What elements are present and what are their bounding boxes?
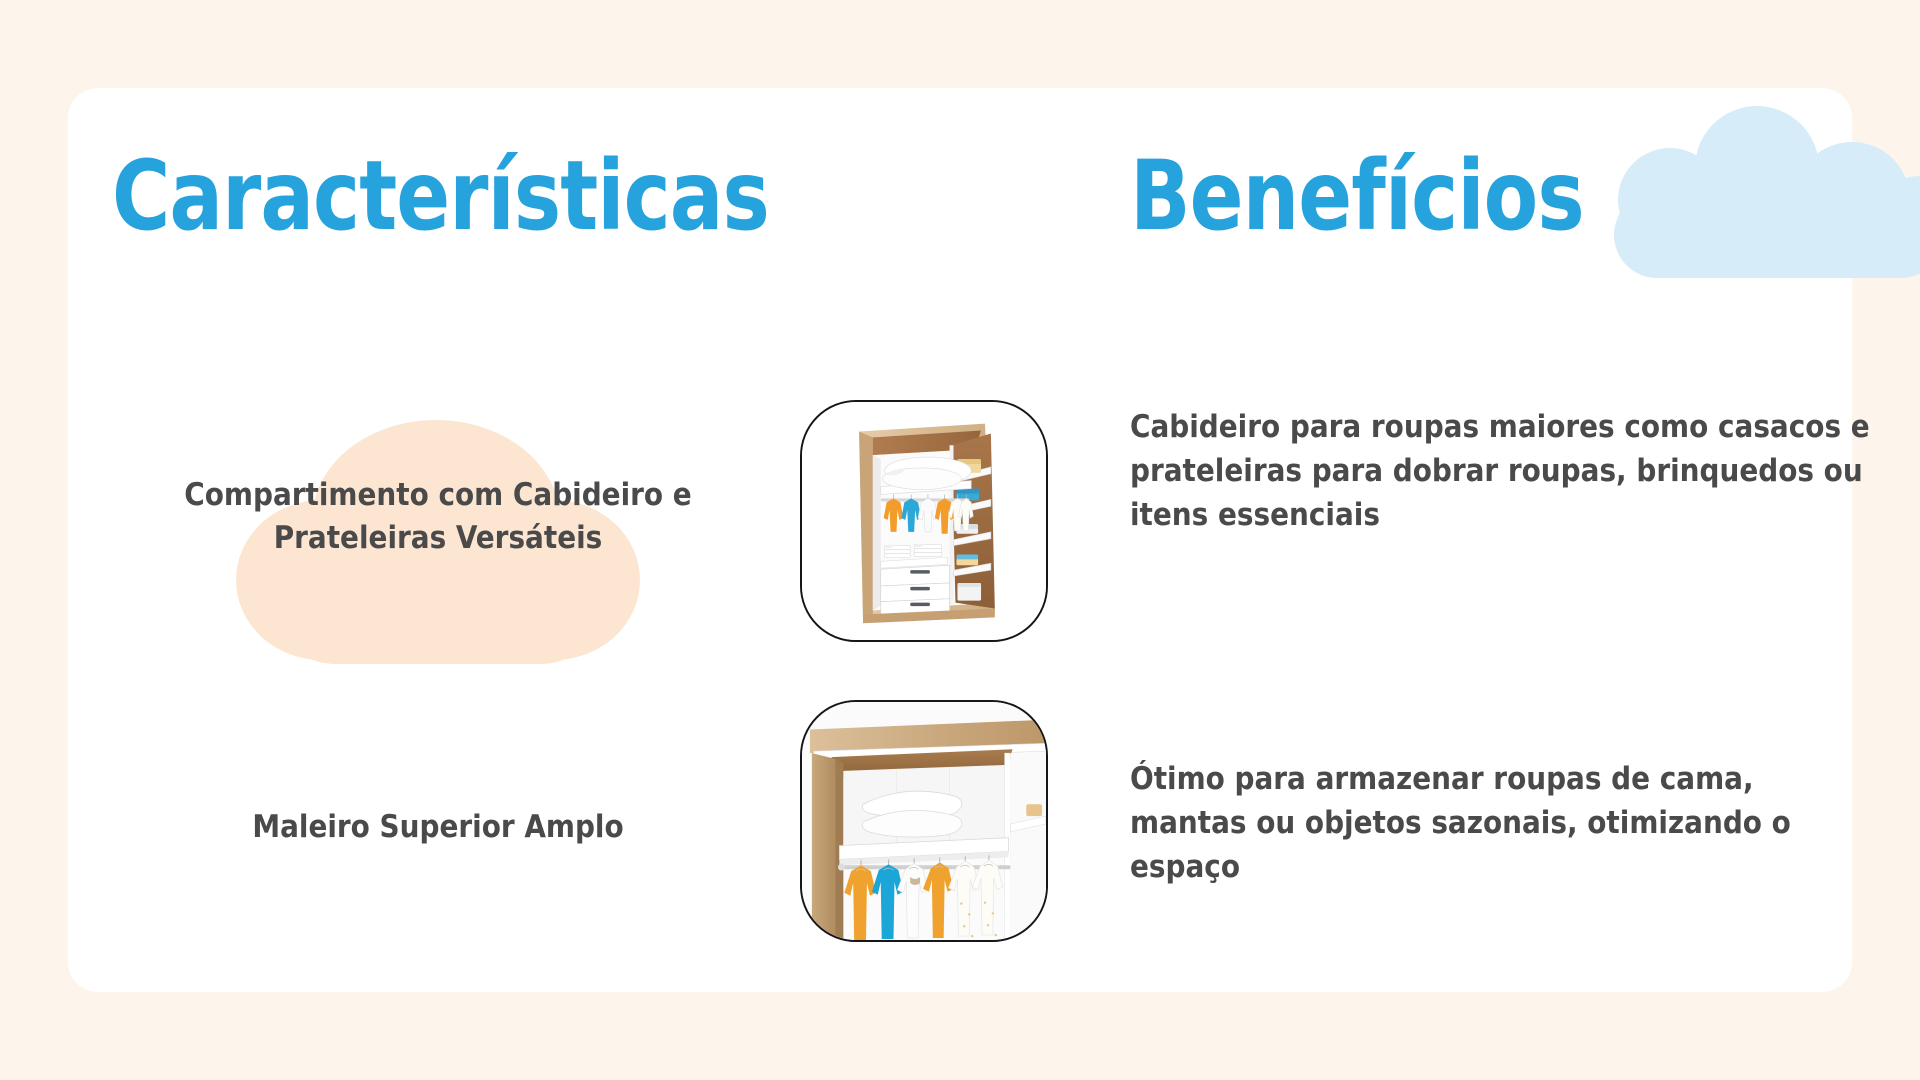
product-image-wardrobe-interior-full-view bbox=[800, 400, 1048, 642]
column-heading-caracteristicas: Características bbox=[112, 148, 769, 244]
feature-label-compartimento-cabideiro: Compartimento com Cabideiro e Prateleira… bbox=[108, 474, 768, 560]
feature-label-maleiro-superior: Maleiro Superior Amplo bbox=[108, 806, 768, 849]
benefit-text-cabideiro-roupas-maiores: Cabideiro para roupas maiores como casac… bbox=[1130, 405, 1870, 537]
column-heading-beneficios: Benefícios bbox=[1130, 148, 1584, 244]
product-image-wardrobe-upper-shelf-closeup bbox=[800, 700, 1048, 942]
benefit-text-otimo-armazenar-roupas-cama: Ótimo para armazenar roupas de cama, man… bbox=[1130, 757, 1870, 889]
